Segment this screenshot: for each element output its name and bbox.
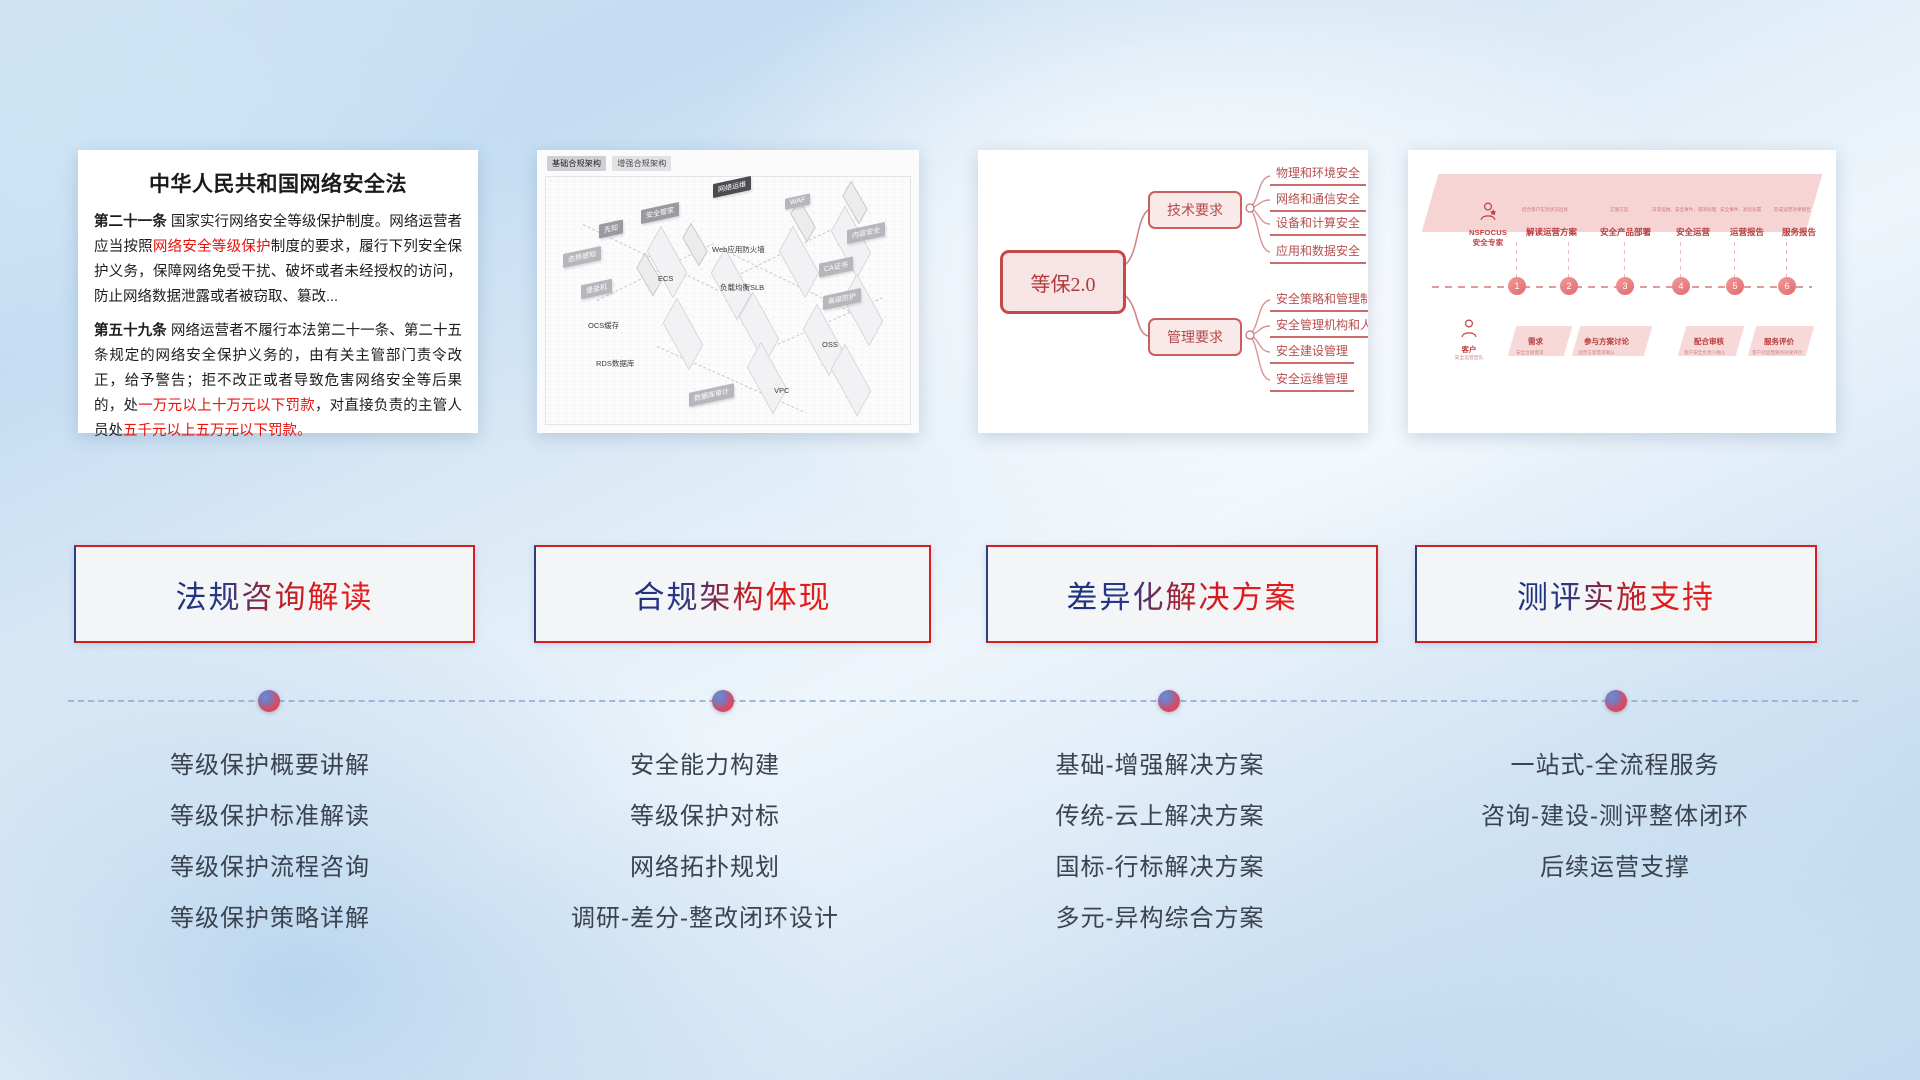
mindmap-leaf-org-personnel: 安全管理机构和人员	[1270, 316, 1368, 338]
thumbnail-mindmap[interactable]: 等保2.0 技术要求 物理和环境安全 网络和通信安全 设备和计算安全 应用和数据…	[978, 150, 1368, 433]
law-article-59-highlight-2: 五千元以上五万元以下罚款。	[123, 423, 312, 439]
list-item: 传统-云上解决方案	[950, 791, 1370, 842]
thumbnail-compliance-architecture[interactable]: 基础合规架构 增强合规架构	[537, 150, 919, 433]
timeline-node-2	[712, 690, 734, 712]
law-article-21: 第二十一条 国家实行网络安全等级保护制度。网络运营者应当按照网络安全等级保护制度…	[94, 210, 462, 310]
pillar-list-1: 等级保护概要讲解 等级保护标准解读 等级保护流程咨询 等级保护策略详解	[60, 740, 480, 944]
architecture-node-slb: 负载均衡SLB	[715, 280, 769, 295]
nsfocus-step-marker-2: 2	[1560, 277, 1578, 295]
timeline	[0, 690, 1920, 730]
nsfocus-step-1-sub: 结合客户实际状况出具	[1522, 207, 1568, 213]
nsfocus-customer-sub: 安全运营团队	[1438, 355, 1500, 363]
timeline-dashed-line	[68, 700, 1858, 702]
timeline-node-4	[1605, 690, 1627, 712]
law-article-59-label: 第五十九条	[94, 323, 167, 339]
node-cube	[837, 194, 871, 218]
nsfocus-bottom-label-1: 需求	[1528, 336, 1543, 347]
architecture-node-ecs: ECS	[653, 272, 678, 285]
pillar-title-box-1[interactable]: 法规咨询解读	[74, 545, 475, 643]
mindmap: 等保2.0 技术要求 物理和环境安全 网络和通信安全 设备和计算安全 应用和数据…	[978, 150, 1368, 433]
nsfocus-step-marker-6: 6	[1778, 277, 1796, 295]
nsfocus-tick	[1680, 242, 1681, 280]
thumbnail-nsfocus-timeline[interactable]: NSFOCUS 安全专家 结合客户实际状况出具 解读运营方案 实施方案 安全产品…	[1408, 150, 1836, 433]
pillar-list-4: 一站式-全流程服务 咨询-建设-测评整体闭环 后续运营支撑	[1395, 740, 1835, 893]
pillar-title-3: 差异化解决方案	[1067, 572, 1298, 617]
pillar-title-2: 合规架构体现	[634, 572, 832, 617]
nsfocus-step-marker-3: 3	[1616, 277, 1634, 295]
list-item: 等级保护策略详解	[60, 893, 480, 944]
list-item: 基础-增强解决方案	[950, 740, 1370, 791]
law-article-59: 第五十九条 网络运营者不履行本法第二十一条、第二十五条规定的网络安全保护义务的，…	[94, 319, 462, 444]
nsfocus-step-5-label: 服务报告	[1782, 226, 1816, 238]
pillar-detail-row: 等级保护概要讲解 等级保护标准解读 等级保护流程咨询 等级保护策略详解 安全能力…	[0, 740, 1920, 980]
mindmap-branch-management: 管理要求	[1148, 318, 1242, 356]
nsfocus-brand-sub: 安全专家	[1460, 238, 1516, 248]
node-cube	[677, 236, 711, 260]
architecture-node-oss: OSS	[817, 338, 843, 351]
architecture-tab-enhanced[interactable]: 增强合规架构	[612, 156, 671, 171]
architecture-tab-basic[interactable]: 基础合规架构	[547, 156, 606, 171]
nsfocus-step-3-label: 安全运营	[1676, 226, 1710, 238]
mindmap-leaf-construction-mgmt: 安全建设管理	[1270, 342, 1354, 364]
mindmap-branch-technical: 技术要求	[1148, 191, 1242, 229]
pillar-title-4: 测评实施支持	[1517, 572, 1715, 617]
list-item: 等级保护标准解读	[60, 791, 480, 842]
pillar-title-1: 法规咨询解读	[176, 572, 374, 617]
architecture-node-vpc: VPC	[769, 384, 794, 397]
nsfocus-step-5-sub: 形成运营效果报告	[1774, 207, 1811, 213]
nsfocus-tick	[1786, 242, 1787, 280]
architecture-node-ocs: OCS缓存	[583, 318, 624, 333]
nsfocus-service-timeline: NSFOCUS 安全专家 结合客户实际状况出具 解读运营方案 实施方案 安全产品…	[1408, 150, 1836, 433]
mindmap-root-node: 等保2.0	[1000, 250, 1126, 314]
list-item: 安全能力构建	[490, 740, 920, 791]
law-title: 中华人民共和国网络安全法	[94, 168, 462, 198]
pillar-list-3: 基础-增强解决方案 传统-云上解决方案 国标-行标解决方案 多元-异构综合方案	[950, 740, 1370, 944]
mindmap-leaf-ops-mgmt: 安全运维管理	[1270, 370, 1354, 392]
nsfocus-bottom-sub-2: 运营方案需求确认	[1578, 350, 1615, 356]
mindmap-leaf-policy-system: 安全策略和管理制度	[1270, 290, 1368, 312]
list-item: 多元-异构综合方案	[950, 893, 1370, 944]
list-item: 调研-差分-整改闭环设计	[490, 893, 920, 944]
nsfocus-step-marker-1: 1	[1508, 277, 1526, 295]
nsfocus-tick	[1516, 242, 1517, 280]
law-document: 中华人民共和国网络安全法 第二十一条 国家实行网络安全等级保护制度。网络运营者应…	[78, 150, 478, 433]
mindmap-leaf-app-data: 应用和数据安全	[1270, 242, 1366, 264]
node-cube	[785, 212, 819, 236]
architecture-node-web-firewall: Web应用防火墙	[707, 242, 770, 257]
pillar-title-box-2[interactable]: 合规架构体现	[534, 545, 931, 643]
mindmap-leaf-physical-env: 物理和环境安全	[1270, 164, 1366, 186]
architecture-tabs: 基础合规架构 增强合规架构	[547, 156, 671, 171]
nsfocus-step-4-sub: 安全事件、高危处置	[1720, 207, 1761, 213]
list-item: 国标-行标解决方案	[950, 842, 1370, 893]
nsfocus-bottom-label-2: 参与方案讨论	[1584, 336, 1629, 347]
law-article-59-highlight-1: 一万元以上十万元以下罚款	[138, 398, 315, 414]
law-article-21-highlight: 网络安全等级保护	[153, 239, 271, 255]
nsfocus-bottom-sub-3: 客户安全负责人确认	[1684, 350, 1725, 356]
timeline-node-3	[1158, 690, 1180, 712]
list-item: 等级保护流程咨询	[60, 842, 480, 893]
thumbnail-row: 中华人民共和国网络安全法 第二十一条 国家实行网络安全等级保护制度。网络运营者应…	[0, 150, 1920, 450]
nsfocus-step-4-label: 运营报告	[1730, 226, 1764, 238]
pillar-headline-row: 法规咨询解读 合规架构体现 差异化解决方案 测评实施支持	[0, 545, 1920, 645]
nsfocus-bottom-sub-4: 客户对运营服务效果评价	[1752, 350, 1803, 356]
pillar-title-box-3[interactable]: 差异化解决方案	[986, 545, 1378, 643]
nsfocus-tick	[1734, 242, 1735, 280]
nsfocus-step-1-label: 解读运营方案	[1526, 226, 1577, 238]
nsfocus-bottom-label-4: 服务评价	[1764, 336, 1794, 347]
nsfocus-tick	[1624, 242, 1625, 280]
mindmap-leaf-device-compute: 设备和计算安全	[1270, 214, 1366, 236]
list-item: 等级保护对标	[490, 791, 920, 842]
nsfocus-bottom-label-3: 配合审核	[1694, 336, 1724, 347]
nsfocus-step-3-sub: 日常运维、安全事件、漏洞处理	[1652, 207, 1716, 213]
pillar-title-box-4[interactable]: 测评实施支持	[1415, 545, 1817, 643]
architecture-diagram: 基础合规架构 增强合规架构	[537, 150, 919, 433]
timeline-node-1	[258, 690, 280, 712]
customer-avatar-icon	[1458, 318, 1480, 340]
thumbnail-cybersecurity-law[interactable]: 中华人民共和国网络安全法 第二十一条 国家实行网络安全等级保护制度。网络运营者应…	[78, 150, 478, 433]
list-item: 咨询-建设-测评整体闭环	[1395, 791, 1835, 842]
nsfocus-expert-block: NSFOCUS 安全专家	[1460, 201, 1516, 248]
nsfocus-step-marker-4: 4	[1672, 277, 1690, 295]
expert-avatar-icon	[1477, 201, 1499, 223]
nsfocus-step-2-sub: 实施方案	[1610, 207, 1628, 213]
nsfocus-step-2-label: 安全产品部署	[1600, 226, 1651, 238]
nsfocus-step-marker-5: 5	[1726, 277, 1744, 295]
pillar-list-2: 安全能力构建 等级保护对标 网络拓扑规划 调研-差分-整改闭环设计	[490, 740, 920, 944]
list-item: 网络拓扑规划	[490, 842, 920, 893]
nsfocus-tick	[1568, 242, 1569, 280]
poster-canvas: 中华人民共和国网络安全法 第二十一条 国家实行网络安全等级保护制度。网络运营者应…	[0, 0, 1920, 1080]
list-item: 等级保护概要讲解	[60, 740, 480, 791]
nsfocus-brand: NSFOCUS	[1460, 228, 1516, 238]
nsfocus-bottom-sub-1: 安全合规需求	[1516, 350, 1544, 356]
nsfocus-top-band-content: NSFOCUS 安全专家 结合客户实际状况出具 解读运营方案 实施方案 安全产品…	[1430, 174, 1814, 232]
law-article-21-label: 第二十一条	[94, 214, 167, 230]
nsfocus-customer-block: 客户 安全运营团队	[1438, 318, 1500, 363]
list-item: 一站式-全流程服务	[1395, 740, 1835, 791]
mindmap-leaf-network-comm: 网络和通信安全	[1270, 190, 1366, 212]
nsfocus-customer-label: 客户	[1438, 345, 1500, 355]
architecture-node-rds: RDS数据库	[591, 356, 639, 371]
list-item: 后续运营支撑	[1395, 842, 1835, 893]
